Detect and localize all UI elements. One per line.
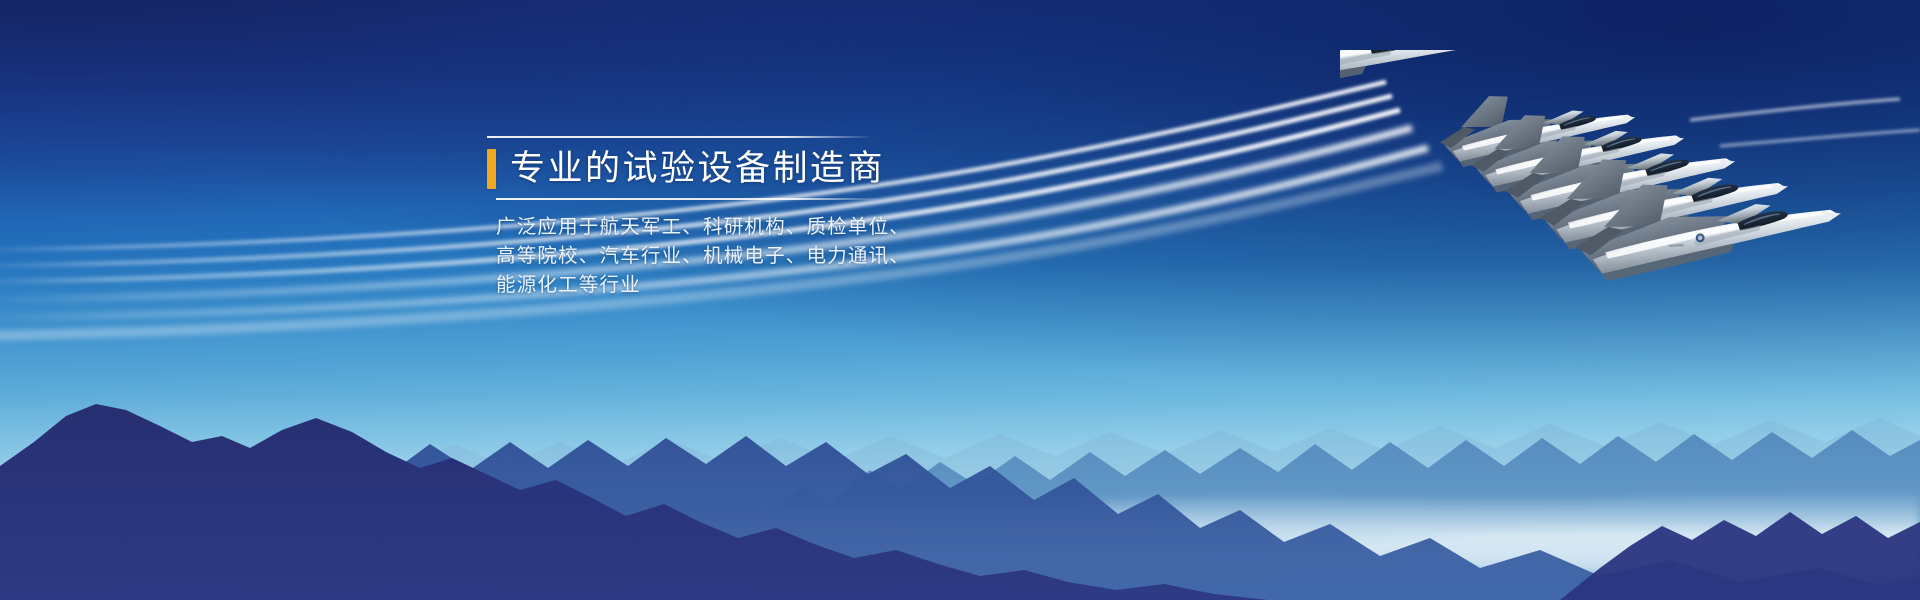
title-row: 专业的试验设备制造商	[487, 149, 887, 189]
subtitle-block: 广泛应用于航天军工、科研机构、质检单位、 高等院校、汽车行业、机械电子、电力通讯…	[496, 213, 887, 300]
subtitle-line-3: 能源化工等行业	[496, 271, 887, 300]
divider-top	[487, 136, 869, 138]
hero-copy: 专业的试验设备制造商 广泛应用于航天军工、科研机构、质检单位、 高等院校、汽车行…	[487, 136, 887, 300]
subtitle-line-2: 高等院校、汽车行业、机械电子、电力通讯、	[496, 242, 887, 271]
divider-bottom	[496, 198, 878, 200]
page-title: 专业的试验设备制造商	[510, 149, 885, 189]
mountain-range	[0, 370, 1920, 600]
hero-banner: 专业的试验设备制造商 广泛应用于航天军工、科研机构、质检单位、 高等院校、汽车行…	[0, 0, 1920, 600]
subtitle-line-1: 广泛应用于航天军工、科研机构、质检单位、	[496, 213, 887, 242]
fighter-jet-formation	[1340, 50, 1860, 280]
accent-bar-icon	[487, 149, 496, 189]
